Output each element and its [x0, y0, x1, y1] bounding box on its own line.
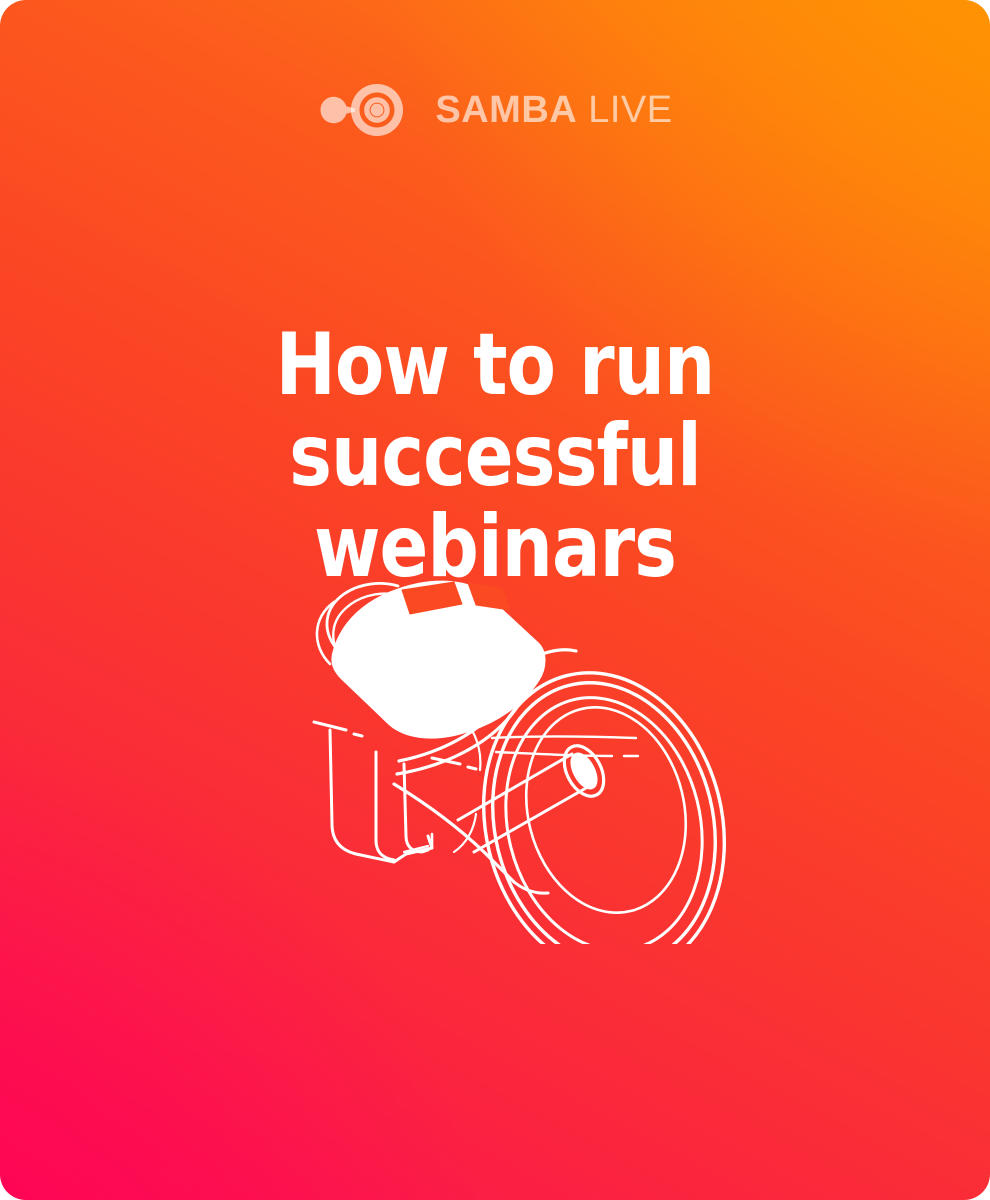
poster-canvas: SAMBA LIVE How to run successful webinar… [0, 0, 990, 1200]
headline-line-1: How to run [118, 320, 871, 411]
brand-logo[interactable]: SAMBA LIVE [0, 84, 990, 136]
brand-wordmark: SAMBA LIVE [435, 91, 672, 129]
megaphone-illustration [246, 552, 746, 944]
brand-word-samba: SAMBA [435, 91, 577, 129]
brand-word-live: LIVE [588, 91, 672, 129]
samba-circle-mark-icon [317, 84, 413, 136]
